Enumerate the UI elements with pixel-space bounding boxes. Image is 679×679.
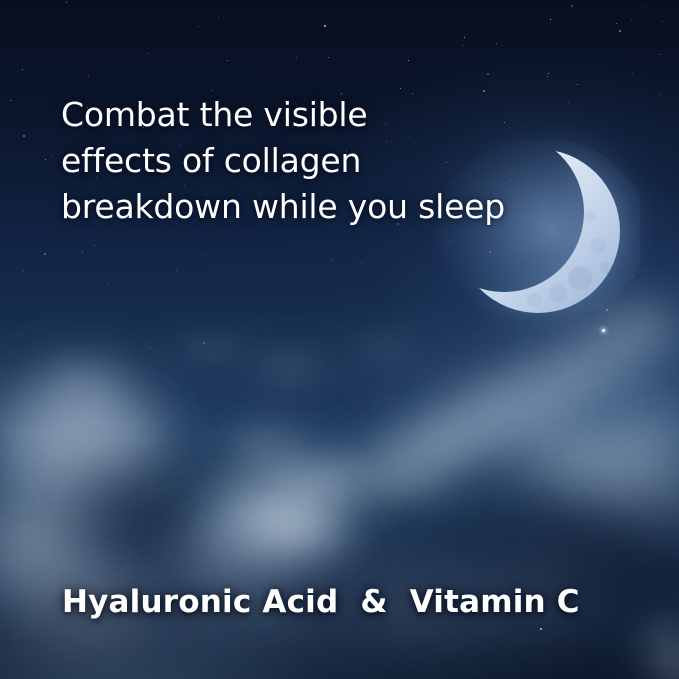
ingredients-text: Hyaluronic Acid & Vitamin C [62, 584, 580, 620]
headline-text: Combat the visible effects of collagen b… [61, 92, 531, 230]
cloud-icon [160, 330, 260, 368]
cloud-icon [330, 330, 440, 370]
night-sky-banner: Combat the visible effects of collagen b… [0, 0, 679, 679]
